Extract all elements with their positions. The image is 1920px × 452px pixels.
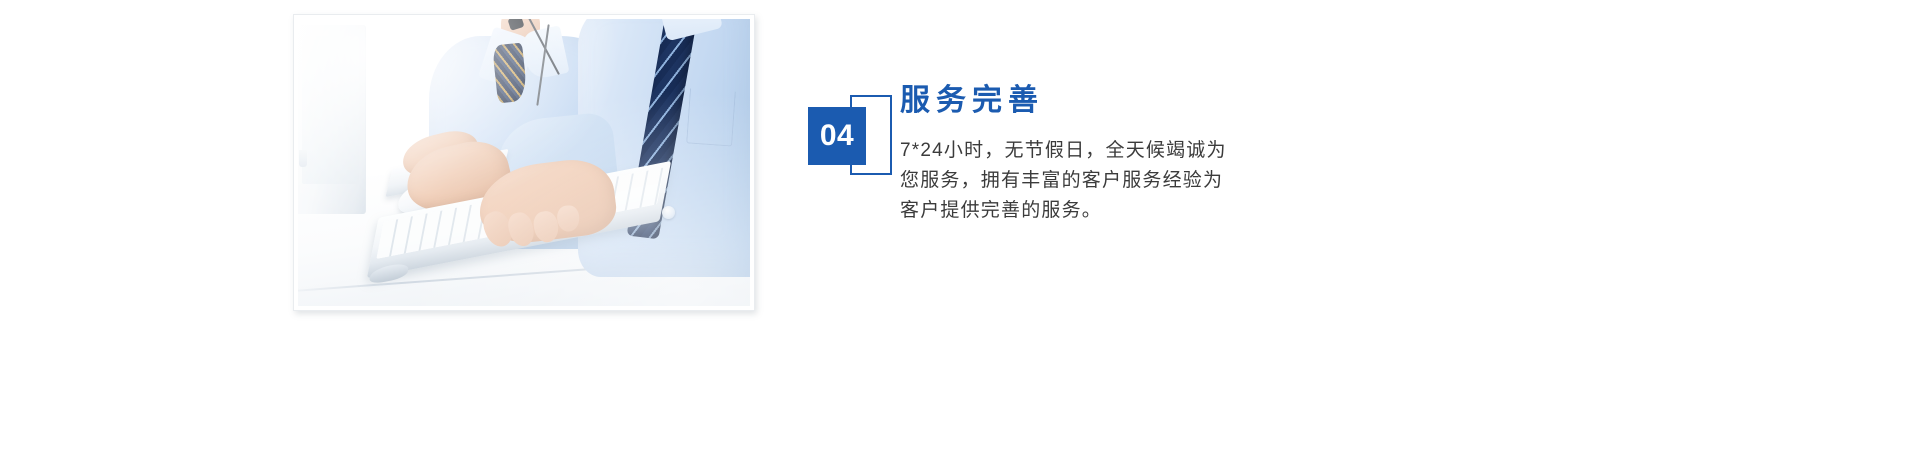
feature-text-column: 服务完善 7*24小时，无节假日，全天候竭诚为 您服务，拥有丰富的客户服务经验为… [900,82,1368,226]
feature-number-badge: 04 [808,95,892,175]
badge-number-label: 04 [808,107,866,165]
monitor-icon [298,25,366,214]
feature-description: 7*24小时，无节假日，全天候竭诚为 您服务，拥有丰富的客户服务经验为 客户提供… [900,136,1368,226]
feature-photo [298,19,750,306]
service-feature-banner: 04 服务完善 7*24小时，无节假日，全天候竭诚为 您服务，拥有丰富的客户服务… [0,0,1920,452]
monitor-screen [302,36,359,184]
feature-content: 04 服务完善 7*24小时，无节假日，全天候竭诚为 您服务，拥有丰富的客户服务… [808,82,1368,252]
finger [531,209,560,244]
front-person-shirt-pocket [686,88,735,146]
description-line: 7*24小时，无节假日，全天候竭诚为 [900,136,1368,166]
finger [556,204,579,231]
male-agent-with-necktie [578,19,750,277]
front-person-cuff-button [662,206,675,219]
back-person-neck-scarf [492,42,528,103]
feature-photo-frame [293,14,755,311]
feature-title: 服务完善 [900,82,1368,120]
badge-filled-square: 04 [808,107,866,165]
description-line: 客户提供完善的服务。 [900,196,1368,226]
description-line: 您服务，拥有丰富的客户服务经验为 [900,166,1368,196]
monitor-stand [299,150,307,167]
